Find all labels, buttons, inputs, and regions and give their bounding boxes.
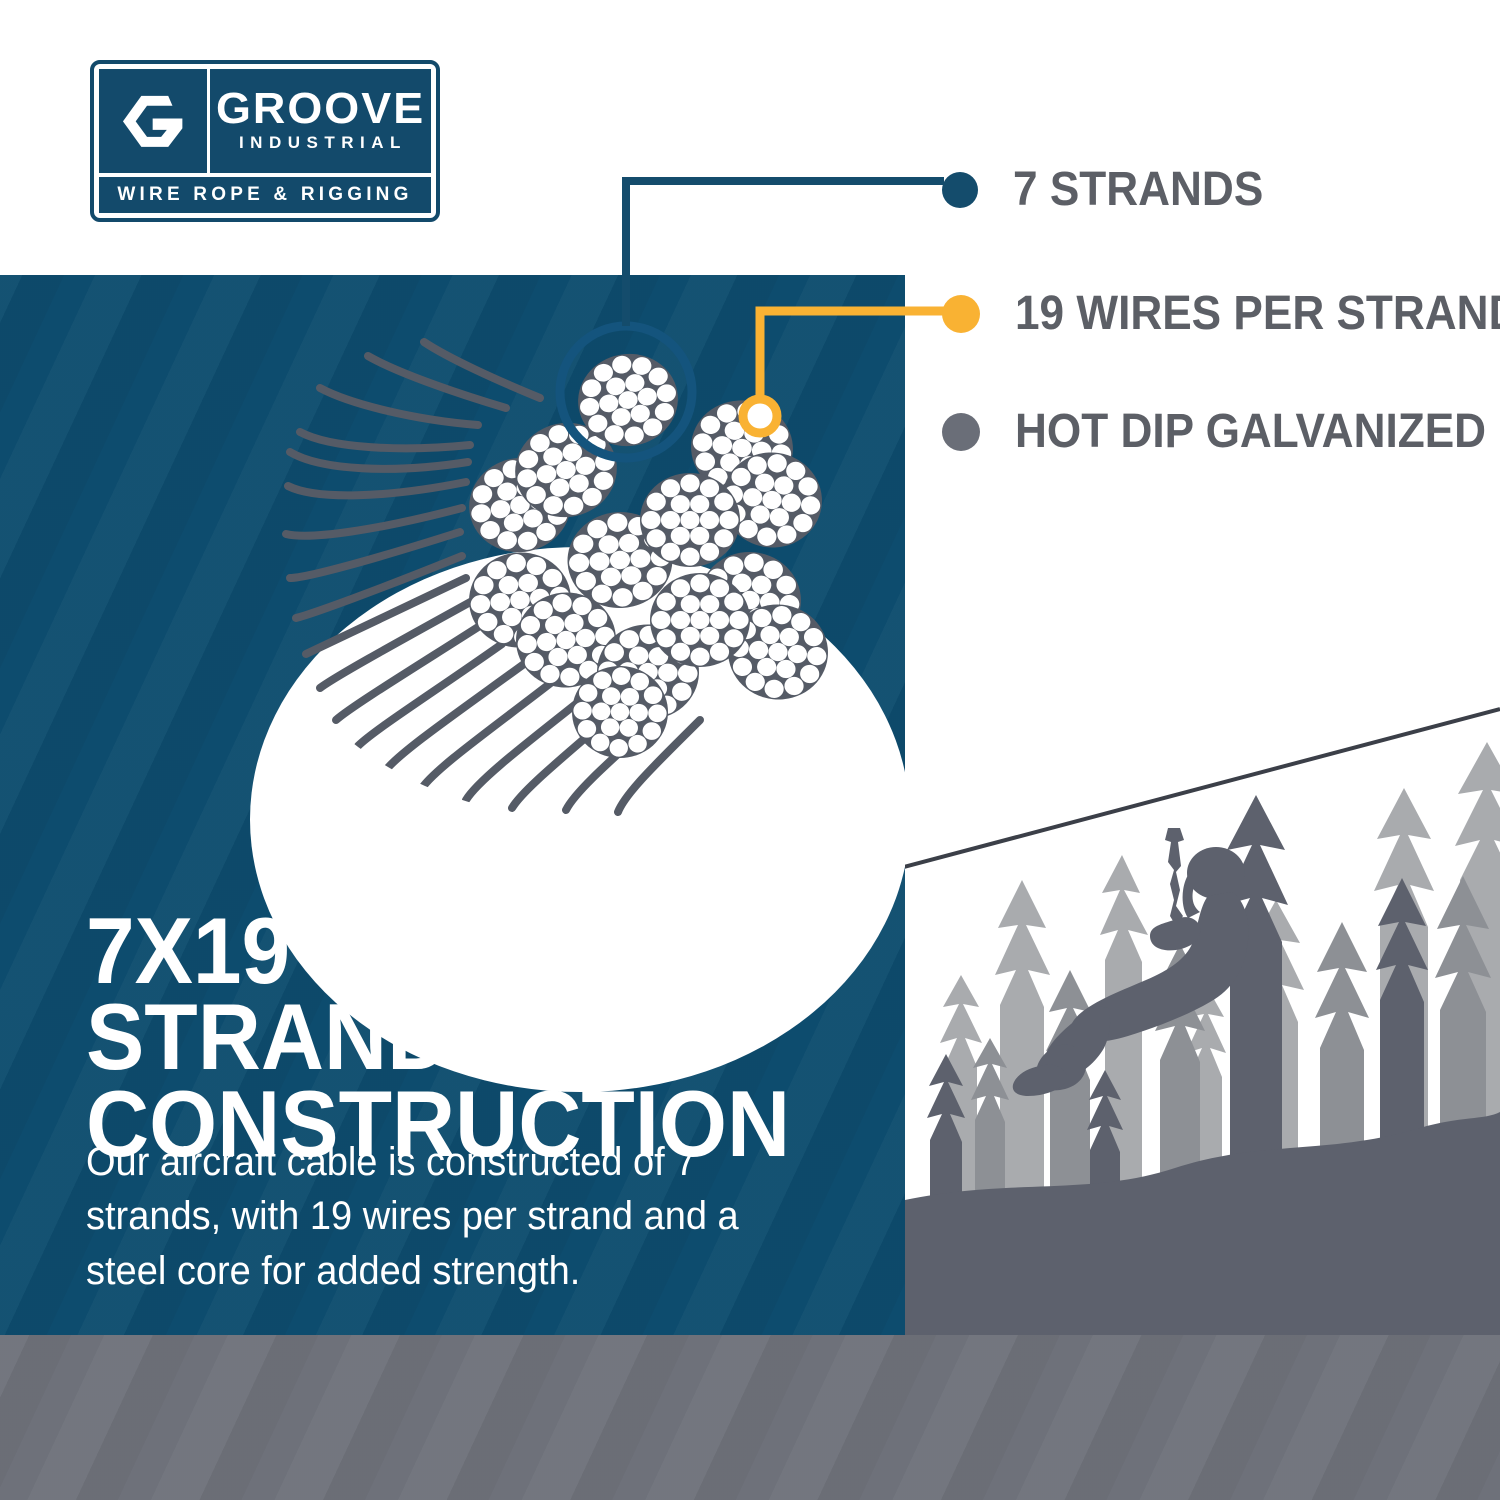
callout-label: 7 STRANDS [1013,162,1263,217]
pine-layer-back [905,742,1500,1335]
callout-label: HOT DIP GALVANIZED [1015,404,1486,459]
callout-19-wires-per-strand[interactable]: 19 WIRES PER STRAND [942,286,1500,341]
callout-label: 19 WIRES PER STRAND [1015,286,1500,341]
brand-logo[interactable]: GROOVE INDUSTRIAL WIRE ROPE & RIGGING [90,60,440,222]
pine-layer-mid [905,876,1500,1335]
bullet-dot-icon [942,172,978,208]
callout-hot-dip-galvanized[interactable]: HOT DIP GALVANIZED [942,404,1500,459]
zipline-rider-silhouette [1013,828,1249,1096]
groove-g-logo-icon [99,69,210,173]
page-title: 7X19 FLEXIBLE STRAND CONSTRUCTION [86,908,830,1167]
pine-layer-front [905,795,1500,1335]
diagonal-stripe-texture [0,1335,1500,1500]
forest-layers [900,709,1500,1335]
zipline-cable-line [900,709,1500,868]
body-description: Our aircraft cable is constructed of 7 s… [86,1135,751,1298]
brand-tagline: WIRE ROPE & RIGGING [117,184,412,206]
infographic-canvas: GROOVE INDUSTRIAL WIRE ROPE & RIGGING 7 … [0,0,1500,1500]
brand-subname: INDUSTRIAL [234,129,407,156]
callout-7-strands[interactable]: 7 STRANDS [942,162,1285,217]
bullet-dot-icon [942,413,980,451]
brand-name: GROOVE [216,88,425,130]
bullet-dot-icon [942,295,980,333]
bottom-gray-bar [0,1335,1500,1500]
